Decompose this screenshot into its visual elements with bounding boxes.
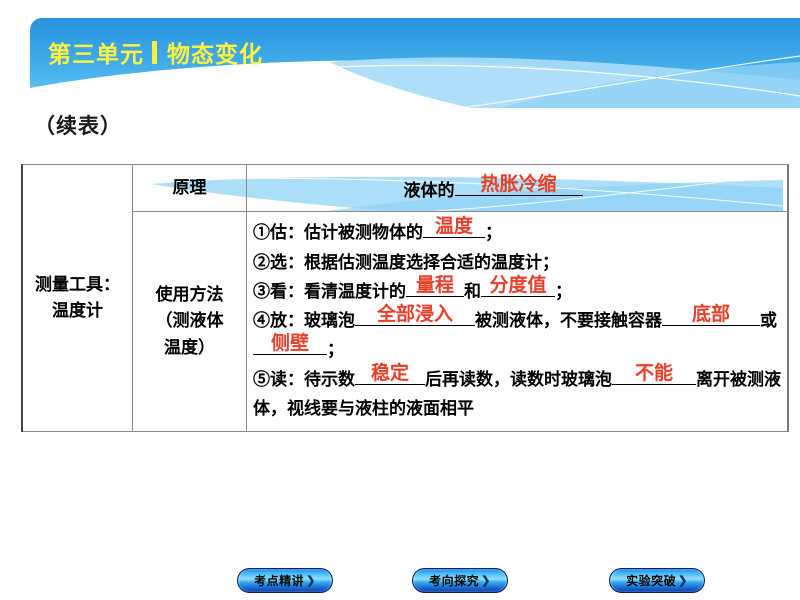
answer-step-3-division: 分度值 [489, 276, 546, 295]
step-5-num: ⑤ [253, 370, 270, 389]
step-3-seg2: 和 [464, 282, 481, 301]
usage-step-4: ④放：玻璃泡全部浸入被测液体，不要接触容器底部或侧壁； [253, 306, 783, 364]
blank-step-4-bottom: 底部 [662, 325, 760, 326]
blank-principle: 热胀冷缩 [455, 195, 583, 196]
table-row: 测量工具： 温度计 原理 液体的热胀冷缩 [22, 165, 788, 212]
nav-button-kaodian-jingjiang[interactable]: 考点精讲 ❯ [237, 568, 333, 593]
header-separator-bar [152, 41, 157, 64]
blank-step-5-cannot: 不能 [612, 384, 696, 385]
answer-step-5-cannot: 不能 [635, 364, 673, 383]
answer-step-4-bottom: 底部 [692, 305, 730, 324]
header-title: 第三单元 物态变化 [48, 35, 263, 69]
usage-step-1: ①估：估计被测物体的温度； [253, 218, 783, 247]
step-5-seg1: 待示数 [304, 370, 355, 389]
usage-step-2: ②选：根据估测温度选择合适的温度计； [253, 248, 783, 277]
chevron-right-icon: ❯ [306, 574, 316, 587]
answer-step-1: 温度 [435, 217, 473, 236]
answer-step-4-side: 侧壁 [271, 334, 309, 353]
table-row: 使用方法 （测液体 温度） ①估：估计被测物体的温度； ②选：根据估测温度选择合… [22, 212, 788, 432]
blank-step-5-stable: 稳定 [355, 384, 425, 385]
measurement-tool-line1: 测量工具： [23, 272, 132, 298]
usage-label-line2: （测液体 [133, 308, 246, 334]
header-topic-label: 物态变化 [167, 35, 263, 69]
principle-label: 原理 [173, 178, 207, 197]
step-3-num: ③ [253, 282, 270, 301]
cell-usage-label: 使用方法 （测液体 温度） [133, 212, 247, 432]
step-4-num: ④ [253, 311, 270, 330]
chevron-right-icon: ❯ [481, 574, 491, 587]
answer-principle: 热胀冷缩 [480, 175, 556, 194]
step-1-num: ① [253, 223, 270, 242]
nav-button-kaoxiang-tanjiu[interactable]: 考向探究 ❯ [412, 568, 508, 593]
cell-principle-label: 原理 [133, 165, 247, 212]
step-3-key: 看： [270, 282, 304, 301]
footer-nav: 考点精讲 ❯ 考向探究 ❯ 实验突破 ❯ [0, 568, 800, 594]
nav-button-3-label: 实验突破 [626, 572, 676, 589]
page-subtitle: （续表） [34, 110, 122, 140]
step-3-seg3: ； [555, 282, 572, 301]
answer-step-3-range: 量程 [416, 276, 454, 295]
answer-step-5-stable: 稳定 [371, 364, 409, 383]
cell-usage-steps: ①估：估计被测物体的温度； ②选：根据估测温度选择合适的温度计； ③看：看清温度… [247, 212, 789, 432]
step-4-seg2: 被测液体，不要接触容器 [475, 311, 662, 330]
usage-label-line1: 使用方法 [133, 282, 246, 308]
measurement-tool-table: 测量工具： 温度计 原理 液体的热胀冷缩 使用方法 （测液体 温度） [21, 164, 789, 432]
step-1-seg1: 估计被测物体的 [304, 223, 423, 242]
blank-step-1: 温度 [423, 237, 485, 238]
nav-button-2-label: 考向探究 [429, 572, 479, 589]
step-5-key: 读： [270, 370, 304, 389]
step-4-seg4: ； [327, 340, 344, 359]
blank-step-4-immerse: 全部浸入 [355, 325, 475, 326]
step-2-seg1: 根据估测温度选择合适的温度计； [304, 253, 559, 272]
step-4-key: 放： [270, 311, 304, 330]
step-5-seg2: 后再读数，读数时玻璃泡 [425, 370, 612, 389]
usage-step-3: ③看：看清温度计的量程和分度值； [253, 277, 783, 306]
step-3-seg1: 看清温度计的 [304, 282, 406, 301]
blank-step-3-division: 分度值 [481, 296, 555, 297]
step-2-key: 选： [270, 253, 304, 272]
step-2-num: ② [253, 253, 270, 272]
header-banner: 第三单元 物态变化 [30, 18, 800, 108]
step-4-seg1: 玻璃泡 [304, 311, 355, 330]
cell-measurement-tool: 测量工具： 温度计 [22, 165, 133, 432]
nav-button-1-label: 考点精讲 [254, 572, 304, 589]
usage-step-5: ⑤读：待示数稳定后再读数，读数时玻璃泡不能离开被测液体，视线要与液柱的液面相平 [253, 365, 783, 423]
header-unit-label: 第三单元 [48, 35, 144, 69]
blank-step-3-range: 量程 [406, 296, 464, 297]
principle-prefix: 液体的 [404, 181, 455, 200]
step-1-seg2: ； [485, 223, 502, 242]
answer-step-4-immerse: 全部浸入 [377, 305, 453, 324]
measurement-tool-line2: 温度计 [23, 298, 132, 324]
nav-button-shiyan-tupo[interactable]: 实验突破 ❯ [609, 568, 705, 593]
step-4-seg3: 或 [760, 311, 777, 330]
step-1-key: 估： [270, 223, 304, 242]
chevron-right-icon: ❯ [678, 574, 688, 587]
cell-principle-content: 液体的热胀冷缩 [247, 165, 789, 212]
blank-step-4-side: 侧壁 [253, 354, 327, 355]
usage-label-line3: 温度） [133, 335, 246, 361]
